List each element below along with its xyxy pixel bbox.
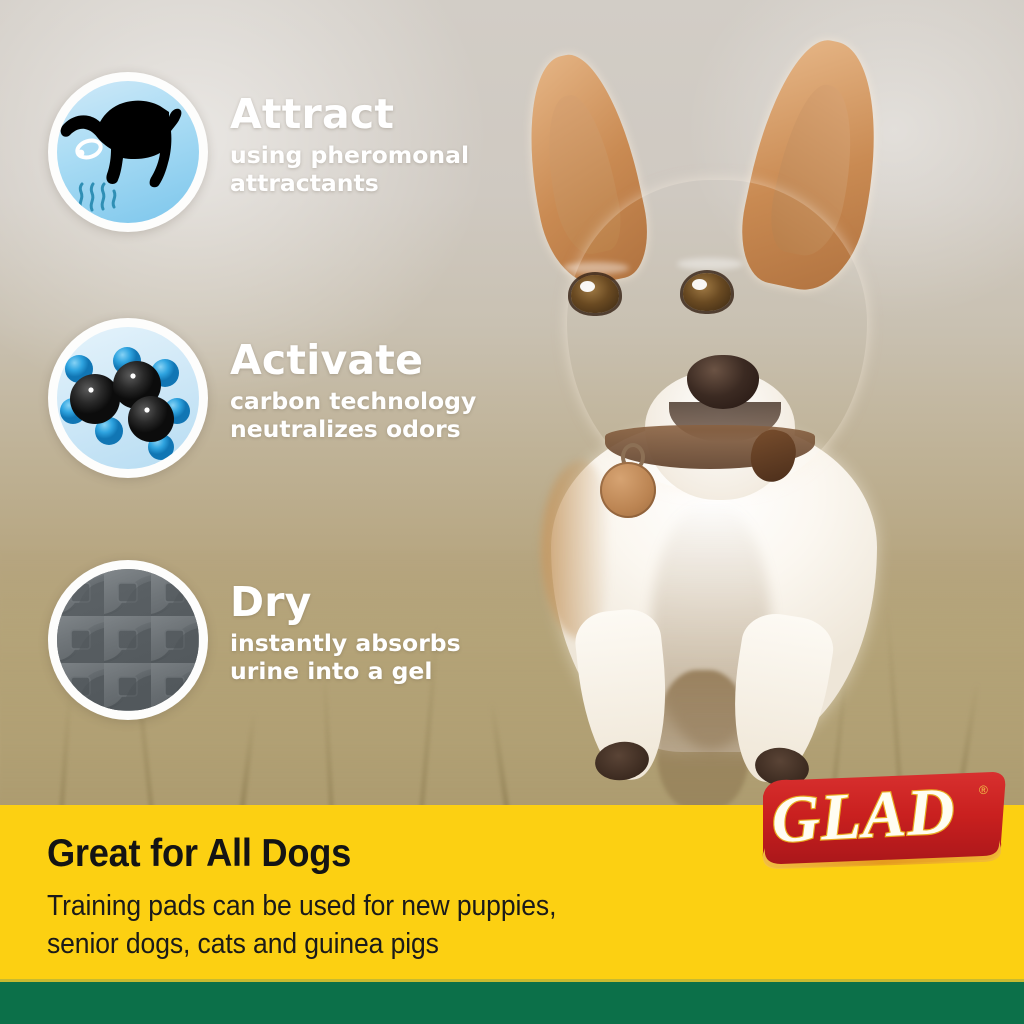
eye-glint bbox=[692, 279, 707, 290]
feature-description: instantly absorbs urine into a gel bbox=[230, 630, 461, 685]
footer-headline: Great for All Dogs bbox=[47, 834, 351, 873]
footer-body-line: senior dogs, cats and guinea pigs bbox=[47, 926, 556, 964]
footer-body-line: Training pads can be used for new puppie… bbox=[47, 888, 556, 926]
dry-text-block: Dry instantly absorbs urine into a gel bbox=[230, 560, 461, 685]
feature-description: using pheromonal attractants bbox=[230, 142, 469, 197]
svg-text:GLAD: GLAD bbox=[770, 774, 957, 857]
feature-title: Activate bbox=[230, 340, 476, 381]
footer-body: Training pads can be used for new puppie… bbox=[47, 888, 556, 963]
feature-attract: Attract using pheromonal attractants bbox=[48, 72, 469, 232]
attract-text-block: Attract using pheromonal attractants bbox=[230, 72, 469, 197]
badge-disc bbox=[57, 81, 199, 223]
feature-title: Dry bbox=[230, 582, 461, 623]
dog-eye-left bbox=[571, 275, 619, 313]
footer-green-bar bbox=[0, 982, 1024, 1024]
feature-description-line: carbon technology bbox=[230, 388, 476, 416]
glad-wordmark: GLAD bbox=[770, 774, 957, 857]
feature-description: carbon technology neutralizes odors bbox=[230, 388, 476, 443]
feature-description-line: urine into a gel bbox=[230, 658, 461, 686]
attract-badge bbox=[48, 72, 208, 232]
running-dog bbox=[455, 30, 975, 770]
glad-logo: GLAD ® bbox=[757, 770, 1009, 870]
scent-waves-icon bbox=[73, 169, 125, 213]
dog-eye-right bbox=[683, 273, 731, 311]
activate-text-block: Activate carbon technology neutralizes o… bbox=[230, 318, 476, 443]
feature-dry: Dry instantly absorbs urine into a gel bbox=[48, 560, 461, 720]
feature-description-line: instantly absorbs bbox=[230, 630, 461, 658]
badge-disc bbox=[57, 569, 199, 711]
activate-badge bbox=[48, 318, 208, 478]
product-feature-ad: Attract using pheromonal attractants bbox=[0, 0, 1024, 1024]
carbon-molecule-icon bbox=[57, 327, 199, 469]
registered-mark: ® bbox=[979, 783, 988, 797]
eye-glint bbox=[580, 281, 595, 292]
feature-description-line: attractants bbox=[230, 170, 469, 198]
badge-disc bbox=[57, 327, 199, 469]
dry-badge bbox=[48, 560, 208, 720]
dog-brow-left bbox=[563, 262, 629, 274]
feature-title: Attract bbox=[230, 94, 469, 135]
dog-brow-right bbox=[677, 258, 743, 270]
feature-description-line: using pheromonal bbox=[230, 142, 469, 170]
quilted-texture-icon bbox=[57, 569, 199, 711]
glad-logo-svg: GLAD ® bbox=[757, 770, 1009, 870]
collar-id-tag bbox=[600, 462, 656, 518]
feature-description-line: neutralizes odors bbox=[230, 416, 476, 444]
feature-activate: Activate carbon technology neutralizes o… bbox=[48, 318, 476, 478]
